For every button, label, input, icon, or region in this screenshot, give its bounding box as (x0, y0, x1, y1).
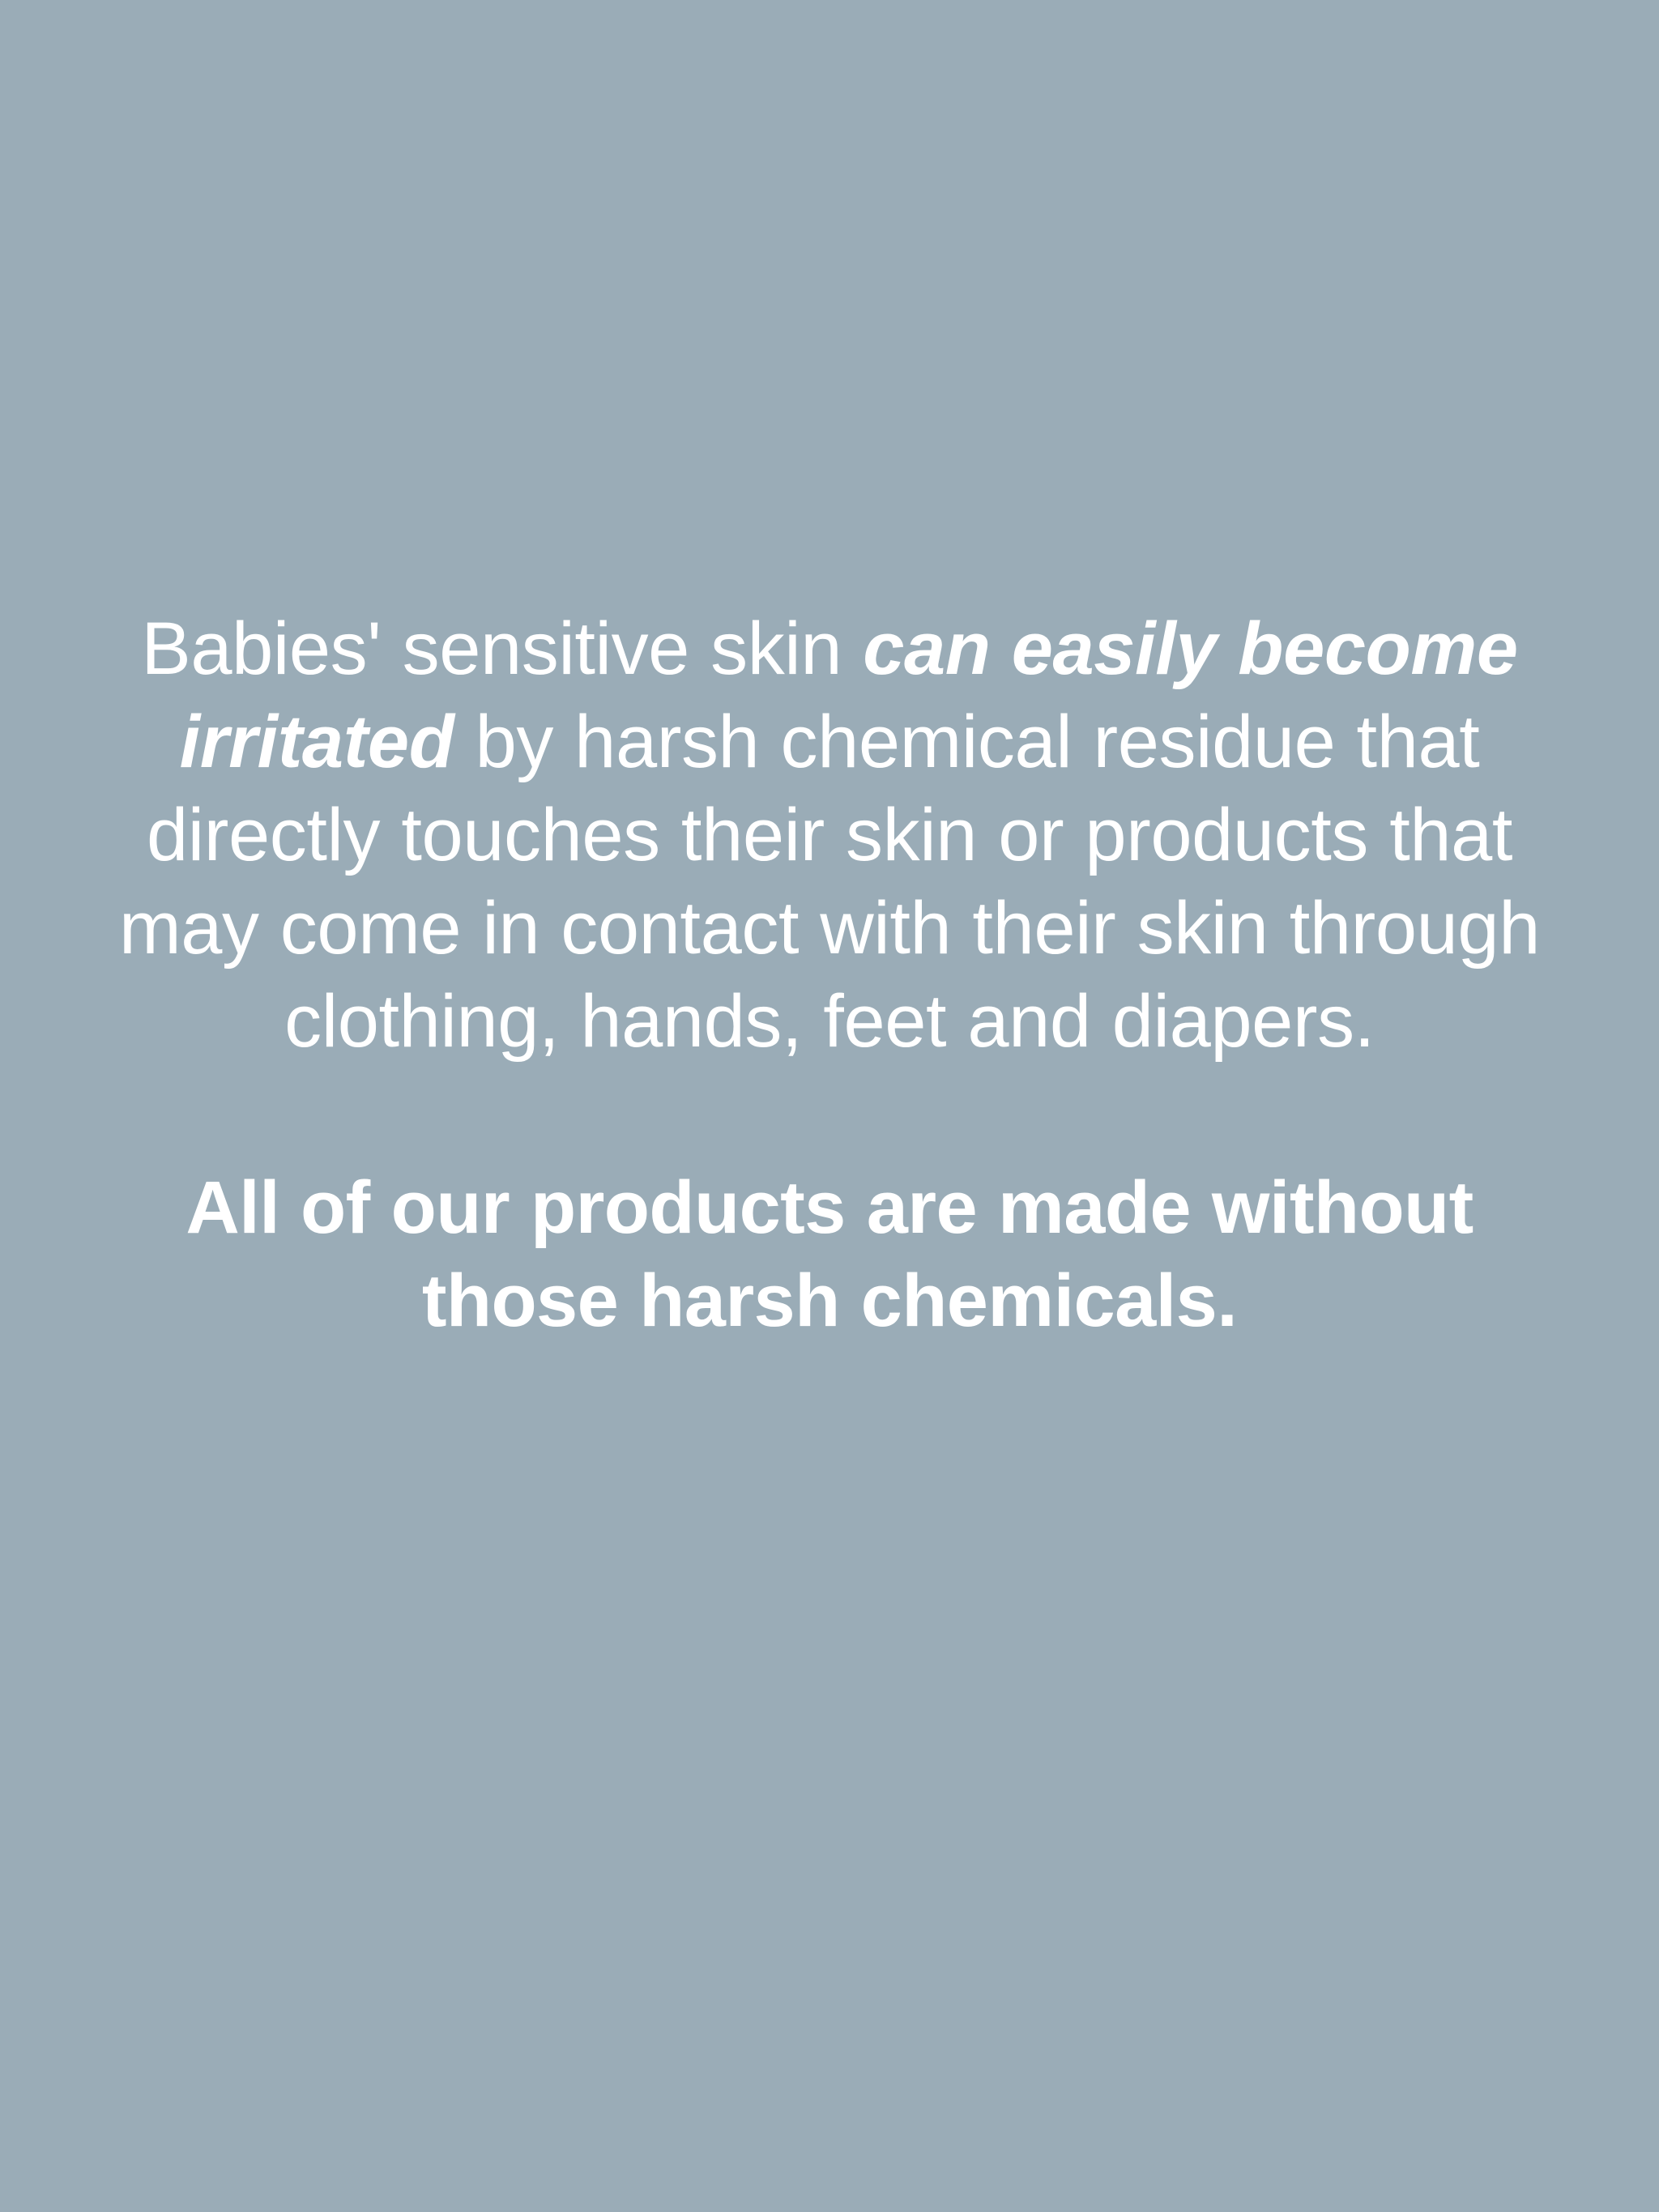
body-lead-text: Babies' sensitive skin (141, 607, 863, 690)
promo-text-card: Babies' sensitive skin can easily become… (0, 0, 1659, 2212)
statement-paragraph: All of our products are made without tho… (88, 1161, 1571, 1348)
paragraph-spacer (88, 1068, 1571, 1161)
body-paragraph: Babies' sensitive skin can easily become… (88, 603, 1571, 1068)
text-content-block: Babies' sensitive skin can easily become… (88, 603, 1571, 1348)
